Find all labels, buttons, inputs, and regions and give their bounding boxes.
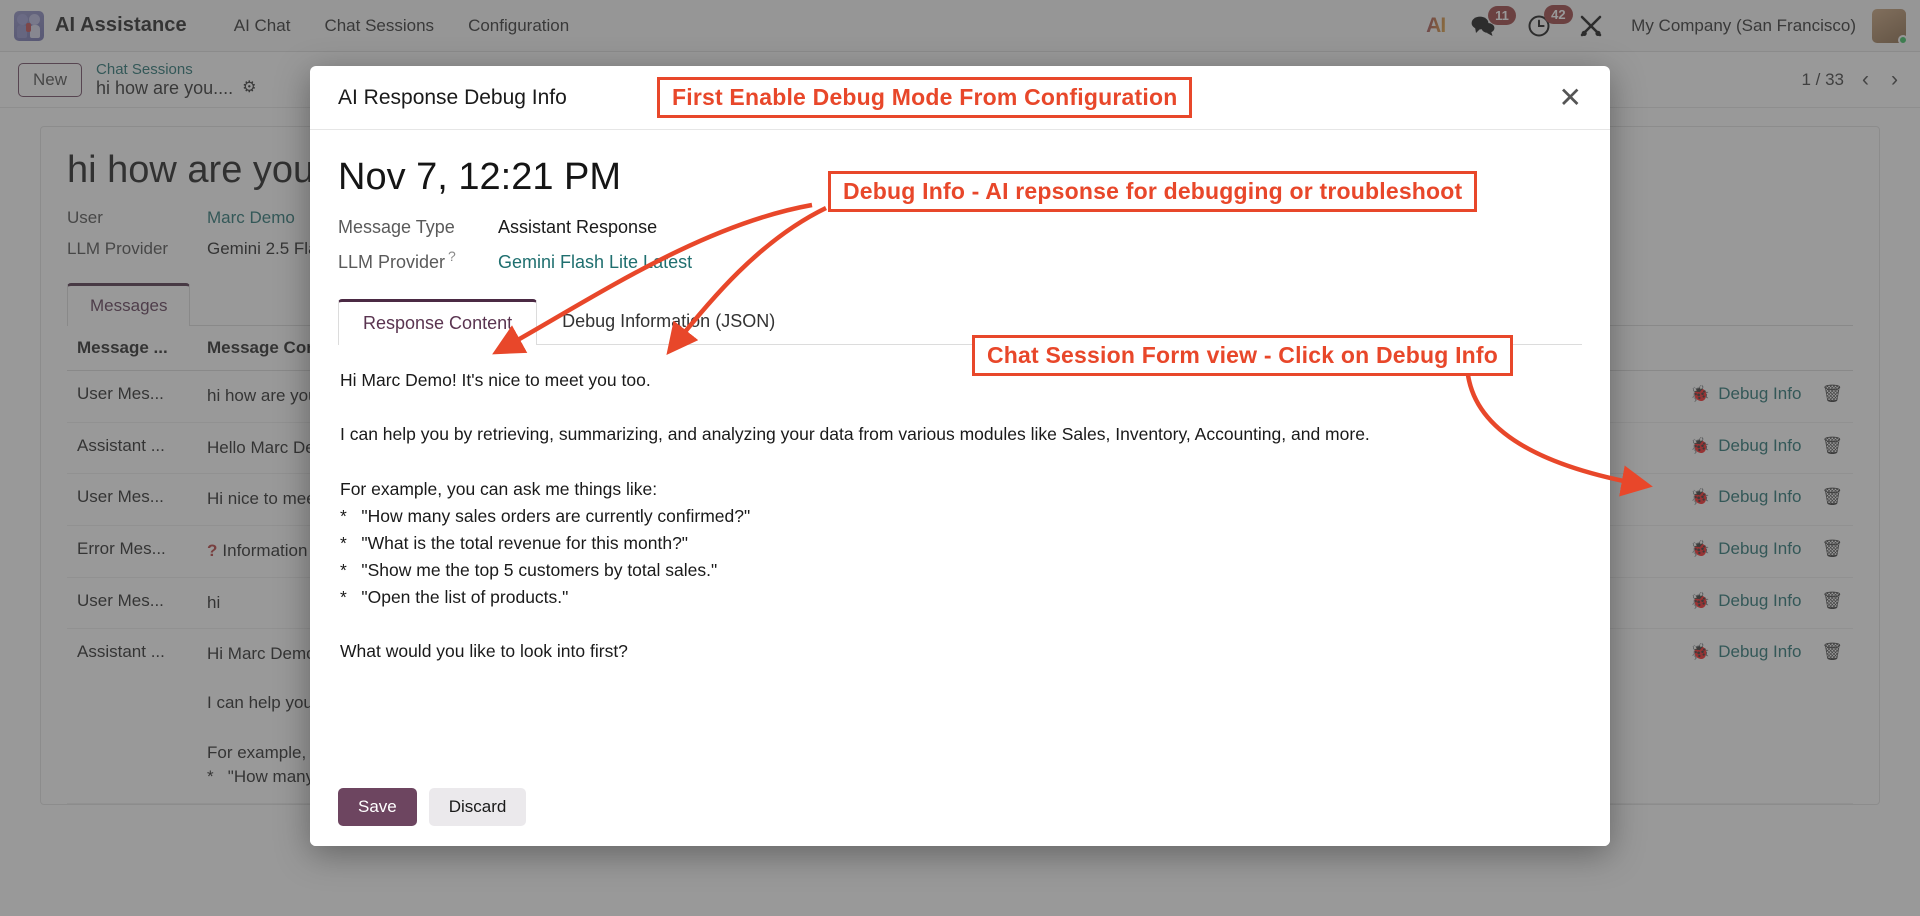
dialog-body: Nov 7, 12:21 PM Message Type Assistant R…	[310, 130, 1610, 772]
screen: AI Assistance AI Chat Chat Sessions Conf…	[0, 0, 1920, 916]
response-content-text: Hi Marc Demo! It's nice to meet you too.…	[338, 345, 1582, 665]
dialog-label-llm-provider-text: LLM Provider	[338, 252, 445, 272]
tab-response-content[interactable]: Response Content	[338, 299, 537, 345]
dialog-value-llm-provider[interactable]: Gemini Flash Lite Latest	[498, 252, 692, 273]
discard-button[interactable]: Discard	[429, 788, 527, 826]
annotation-debug-info-description: Debug Info - AI repsonse for debugging o…	[828, 171, 1477, 212]
annotation-click-debug-info: Chat Session Form view - Click on Debug …	[972, 335, 1513, 376]
dialog-footer: Save Discard	[310, 772, 1610, 846]
dialog-label-llm-provider: LLM Provider?	[338, 248, 498, 273]
annotation-enable-debug-mode: First Enable Debug Mode From Configurati…	[657, 77, 1192, 118]
dialog-value-message-type: Assistant Response	[498, 217, 657, 238]
close-icon[interactable]: ✕	[1559, 84, 1582, 112]
tab-debug-information-json[interactable]: Debug Information (JSON)	[537, 299, 800, 344]
save-button[interactable]: Save	[338, 788, 417, 826]
dialog-title: AI Response Debug Info	[338, 86, 567, 110]
dialog-label-message-type: Message Type	[338, 217, 498, 238]
dialog-field-llm-provider: LLM Provider? Gemini Flash Lite Latest	[338, 248, 1582, 273]
help-tooltip-icon[interactable]: ?	[448, 248, 456, 264]
dialog-field-message-type: Message Type Assistant Response	[338, 217, 1582, 238]
